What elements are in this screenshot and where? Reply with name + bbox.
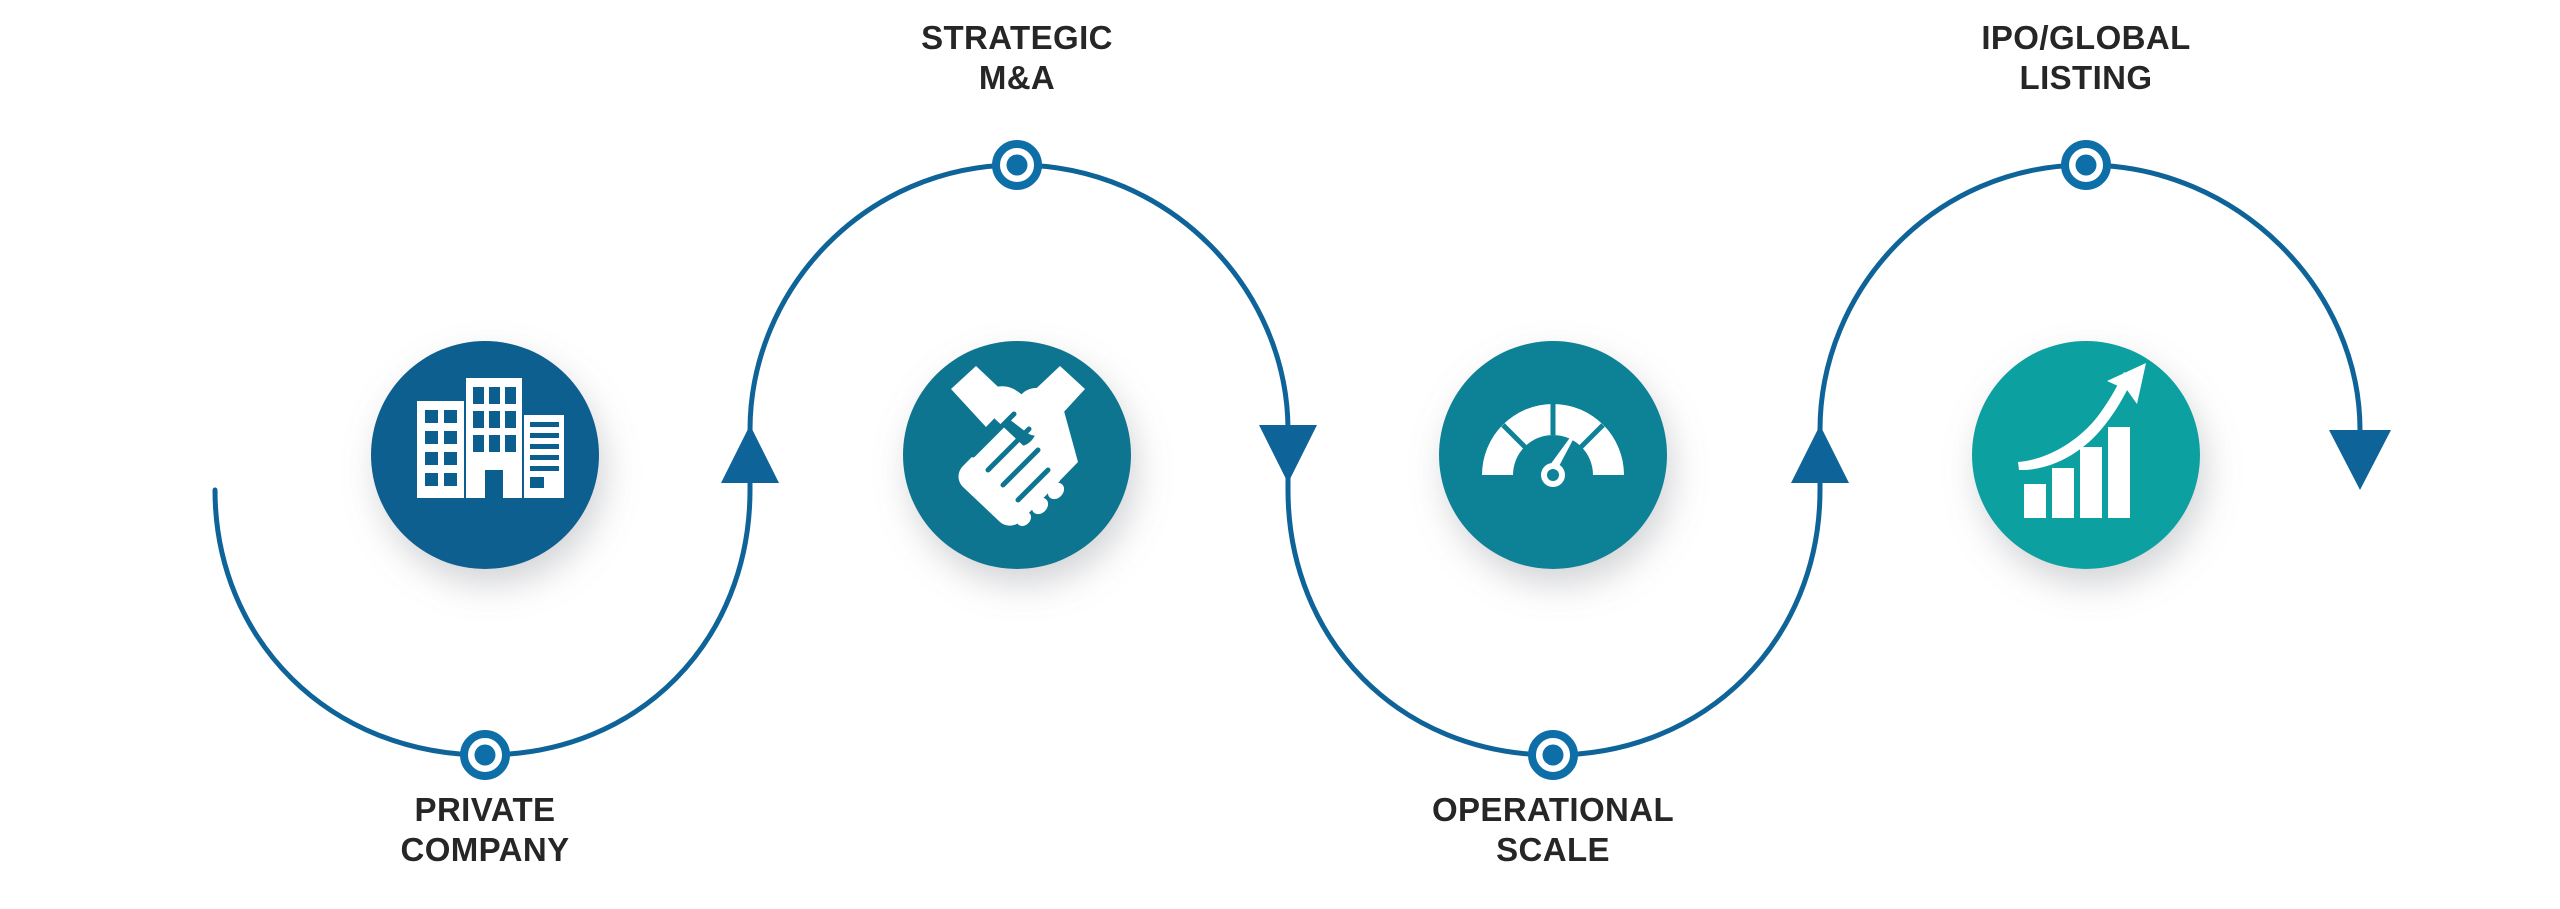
bar-2 <box>2052 468 2074 518</box>
flow-diagram-svg <box>0 0 2560 909</box>
stage-circle-ipo-global-listing[interactable] <box>1972 341 2200 569</box>
stage-circle-operational-scale[interactable] <box>1439 341 1667 569</box>
bar-3 <box>2080 447 2102 518</box>
node-marker-private-company[interactable] <box>464 734 506 776</box>
stage-circle-private-company[interactable] <box>371 341 599 569</box>
node-marker-ipo-global-listing[interactable] <box>2065 144 2107 186</box>
stage-circle-bg-3 <box>1439 341 1667 569</box>
bar-4 <box>2108 427 2130 518</box>
infographic-canvas: PRIVATE COMPANY STRATEGIC M&A OPERATIONA… <box>0 0 2560 909</box>
stage-label-private-company: PRIVATE COMPANY <box>255 790 715 871</box>
node-marker-strategic-ma[interactable] <box>996 144 1038 186</box>
node-marker-operational-scale[interactable] <box>1532 734 1574 776</box>
stage-label-operational-scale: OPERATIONAL SCALE <box>1323 790 1783 871</box>
bar-1 <box>2024 484 2046 518</box>
arrow-down-icon-2 <box>1259 425 1317 483</box>
arrow-up-icon-1 <box>721 425 779 483</box>
stage-label-ipo-global-listing: IPO/GLOBAL LISTING <box>1856 18 2316 99</box>
stage-label-strategic-ma: STRATEGIC M&A <box>787 18 1247 99</box>
arrow-down-icon-4 <box>2329 430 2391 490</box>
stage-circle-strategic-ma[interactable] <box>903 341 1131 569</box>
arrow-up-icon-3 <box>1791 425 1849 483</box>
